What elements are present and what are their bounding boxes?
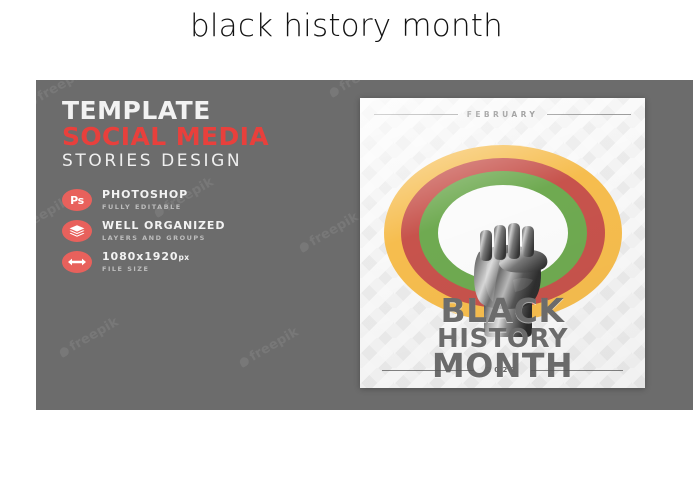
feature-subtitle: FILE SIZE <box>102 265 189 273</box>
footer-rule-right <box>531 370 623 371</box>
poster-header: FEBRUARY <box>374 110 631 119</box>
poster-title-line-1: BLACK <box>360 296 645 327</box>
heading-template: TEMPLATE <box>62 98 312 124</box>
page-title: black history month <box>0 8 693 44</box>
heading-social-media: SOCIAL MEDIA <box>62 124 312 150</box>
poster-year-label: 2022 <box>486 366 519 374</box>
feature-title: 1080x1920px <box>102 251 189 263</box>
template-info-panel: TEMPLATE SOCIAL MEDIA STORIES DESIGN Ps … <box>62 98 312 282</box>
header-rule-left <box>374 114 458 115</box>
feature-item-file-size: 1080x1920px FILE SIZE <box>62 251 312 273</box>
feature-title-unit: px <box>178 253 189 262</box>
poster-footer: 2022 <box>382 366 623 374</box>
feature-list: Ps PHOTOSHOP FULLY EDITABLE WELL ORGANIZ… <box>62 189 312 273</box>
photoshop-icon: Ps <box>62 189 92 211</box>
photoshop-icon-label: Ps <box>70 194 84 207</box>
feature-subtitle: LAYERS AND GROUPS <box>102 234 225 242</box>
poster-month-label: FEBRUARY <box>467 110 538 119</box>
feature-title: WELL ORGANIZED <box>102 220 225 232</box>
poster-artboard: FEBRUARY <box>360 98 645 388</box>
watermark-freepik: freepik <box>237 324 302 370</box>
header-rule-right <box>547 114 631 115</box>
heading-stories-design: STORIES DESIGN <box>62 151 312 172</box>
resize-arrow-icon <box>62 251 92 273</box>
layers-icon <box>62 220 92 242</box>
watermark-freepik: freepik <box>57 314 122 360</box>
feature-item-photoshop: Ps PHOTOSHOP FULLY EDITABLE <box>62 189 312 211</box>
feature-subtitle: FULLY EDITABLE <box>102 203 188 211</box>
feature-title-value: 1080x1920 <box>102 250 178 263</box>
footer-rule-left <box>382 370 474 371</box>
feature-title: PHOTOSHOP <box>102 189 188 201</box>
feature-item-organization: WELL ORGANIZED LAYERS AND GROUPS <box>62 220 312 242</box>
